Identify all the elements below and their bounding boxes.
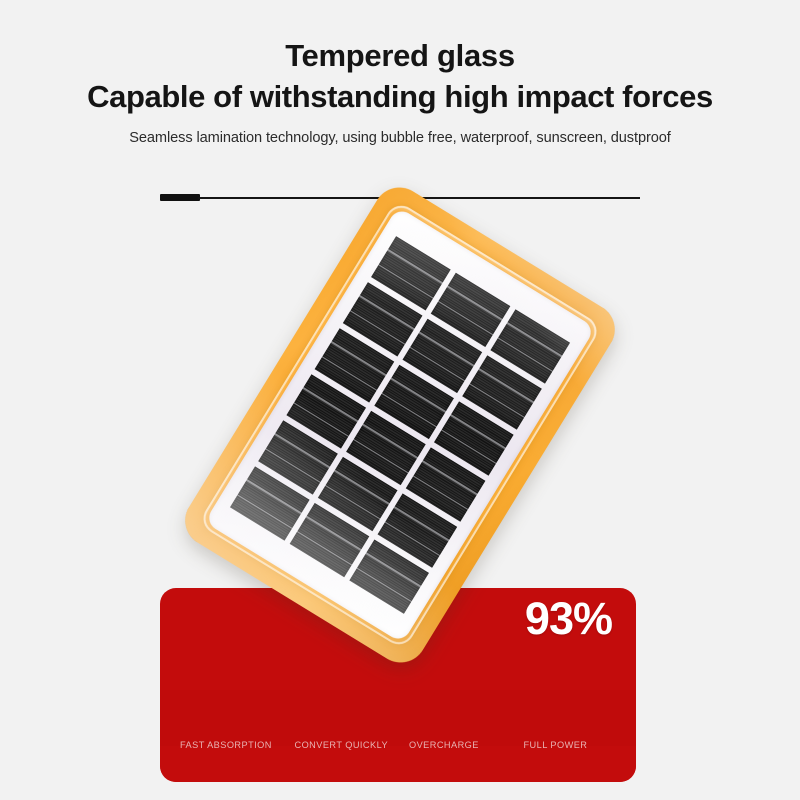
- feature-label-overcharge: OVERCHARGE: [403, 740, 518, 750]
- header-text-block: Tempered glass Capable of withstanding h…: [0, 38, 800, 146]
- feature-card-footer: [160, 746, 636, 782]
- feature-label-row: FAST ABSORPTION CONVERT QUICKLY OVERCHAR…: [174, 740, 632, 750]
- headline-primary: Tempered glass: [0, 38, 800, 75]
- product-feature-banner: Tempered glass Capable of withstanding h…: [0, 0, 800, 800]
- subheadline-text: Seamless lamination technology, using bu…: [0, 130, 800, 146]
- feature-label-fast-absorption: FAST ABSORPTION: [174, 740, 289, 750]
- solar-cell-grid: [230, 236, 570, 614]
- feature-label-full-power: FULL POWER: [518, 740, 633, 750]
- divider-accent-segment: [160, 194, 200, 201]
- efficiency-value: 93%: [525, 596, 612, 641]
- headline-secondary: Capable of withstanding high impact forc…: [0, 77, 800, 117]
- feature-label-convert-quickly: CONVERT QUICKLY: [289, 740, 404, 750]
